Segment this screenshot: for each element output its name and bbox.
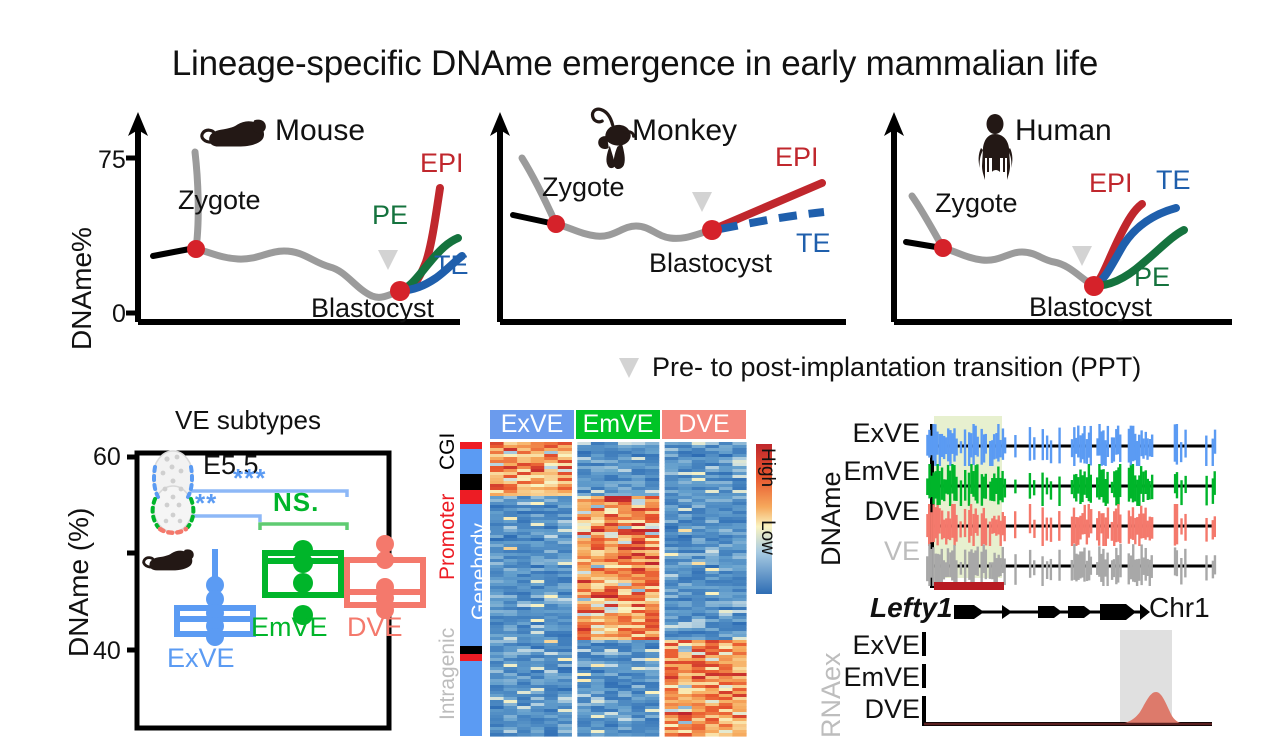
boxplot-group-label-exve: ExVE bbox=[167, 643, 235, 674]
heatmap-column-header-emve: EmVE bbox=[576, 410, 660, 439]
mouse-lineage-epi: EPI bbox=[420, 148, 464, 179]
human-silhouette-icon bbox=[979, 114, 1013, 180]
mouse-stage-blastocyst: Blastocyst bbox=[311, 293, 434, 324]
e55-egg-cylinder-icon bbox=[153, 451, 194, 533]
sig-label-emve-dve: NS. bbox=[273, 487, 319, 518]
sig-label-exve-emve: ** bbox=[195, 488, 217, 519]
rna-track-label-emve: EmVE bbox=[822, 662, 920, 693]
rnaex-tracks bbox=[922, 630, 1222, 732]
chromosome-label: Chr1 bbox=[1149, 592, 1210, 624]
dname-tracks bbox=[922, 416, 1222, 586]
sig-bracket-emve-dve bbox=[260, 524, 347, 530]
colorbar-label-high: High bbox=[756, 448, 778, 487]
heatmap-panel: CGI Promoter Intragenic Genebody ExVE Em… bbox=[420, 408, 820, 738]
rna-track-label-dve: DVE bbox=[832, 694, 920, 725]
boxplot-group-label-dve: DVE bbox=[347, 612, 403, 643]
grey-triangle-marker-icon bbox=[618, 356, 640, 380]
colorbar-label-low: Low bbox=[756, 520, 778, 555]
mouse-lineage-pe: PE bbox=[372, 200, 408, 231]
monkey-stage-blastocyst: Blastocyst bbox=[649, 248, 772, 279]
dname-track-label-emve: EmVE bbox=[822, 456, 920, 487]
rna-track-label-exve: ExVE bbox=[832, 630, 920, 661]
highlight-region-bar bbox=[934, 582, 1004, 590]
gene-model bbox=[954, 598, 1150, 626]
monkey-species-label: Monkey bbox=[632, 114, 737, 148]
heatmap-annotation-label-cgi: CGI bbox=[436, 433, 460, 470]
monkey-silhouette-icon bbox=[593, 109, 634, 169]
human-stage-blastocyst: Blastocyst bbox=[1029, 292, 1152, 323]
human-lineage-epi: EPI bbox=[1089, 168, 1133, 199]
gene-name-label: Lefty1 bbox=[870, 592, 952, 624]
boxplot-panel: VE subtypes DNAme (%) 60 40 bbox=[55, 405, 395, 740]
figure-title: Lineage-specific DNAme emergence in earl… bbox=[0, 44, 1270, 84]
mouse-lineage-te: TE bbox=[434, 250, 469, 281]
heatmap-annotation-label-promoter: Promoter bbox=[436, 494, 460, 580]
trajectory-panel-monkey: Monkey Zygote Blastocyst EPI TE bbox=[480, 110, 870, 340]
monkey-lineage-te: TE bbox=[796, 228, 831, 259]
heatmap-column-header-exve: ExVE bbox=[490, 410, 574, 439]
trajectory-panel-mouse: DNAme% 75 0 Mouse Zygote Blastocyst EPI … bbox=[60, 110, 470, 340]
human-lineage-te: TE bbox=[1156, 165, 1191, 196]
monkey-lineage-epi: EPI bbox=[775, 142, 819, 173]
boxplot-group-label-emve: EmVE bbox=[251, 612, 328, 643]
human-stage-zygote: Zygote bbox=[935, 188, 1018, 219]
dname-track-label-dve: DVE bbox=[832, 496, 920, 527]
sig-label-exve-dve: *** bbox=[233, 463, 266, 494]
heatmap-column-header-dve: DVE bbox=[662, 410, 746, 439]
mouse-stage-zygote: Zygote bbox=[178, 185, 261, 216]
genome-browser-panel: DNAme RNAex ExVE EmVE DVE VE Lefty1 Chr1… bbox=[812, 408, 1270, 740]
human-species-label: Human bbox=[1015, 114, 1112, 148]
heatmap-annotation-label-intragenic: Intragenic bbox=[436, 628, 460, 720]
dname-track-label-ve: VE bbox=[832, 536, 920, 567]
box-dve bbox=[347, 535, 423, 619]
monkey-stage-zygote: Zygote bbox=[542, 172, 625, 203]
mouse-silhouette-icon bbox=[144, 549, 194, 570]
human-lineage-pe: PE bbox=[1134, 262, 1170, 293]
heatmap-annotation-label-genebody: Genebody bbox=[468, 523, 492, 620]
heatmap-matrix bbox=[490, 442, 746, 736]
ppt-legend-label: Pre- to post-implantation transition (PP… bbox=[652, 352, 1141, 383]
trajectory-panel-human: Human Zygote Blastocyst EPI TE PE bbox=[880, 110, 1270, 340]
mouse-silhouette-icon bbox=[202, 120, 266, 147]
dname-track-label-exve: ExVE bbox=[832, 418, 920, 449]
ppt-legend-row: Pre- to post-implantation transition (PP… bbox=[618, 352, 1141, 383]
mouse-species-label: Mouse bbox=[275, 114, 365, 148]
